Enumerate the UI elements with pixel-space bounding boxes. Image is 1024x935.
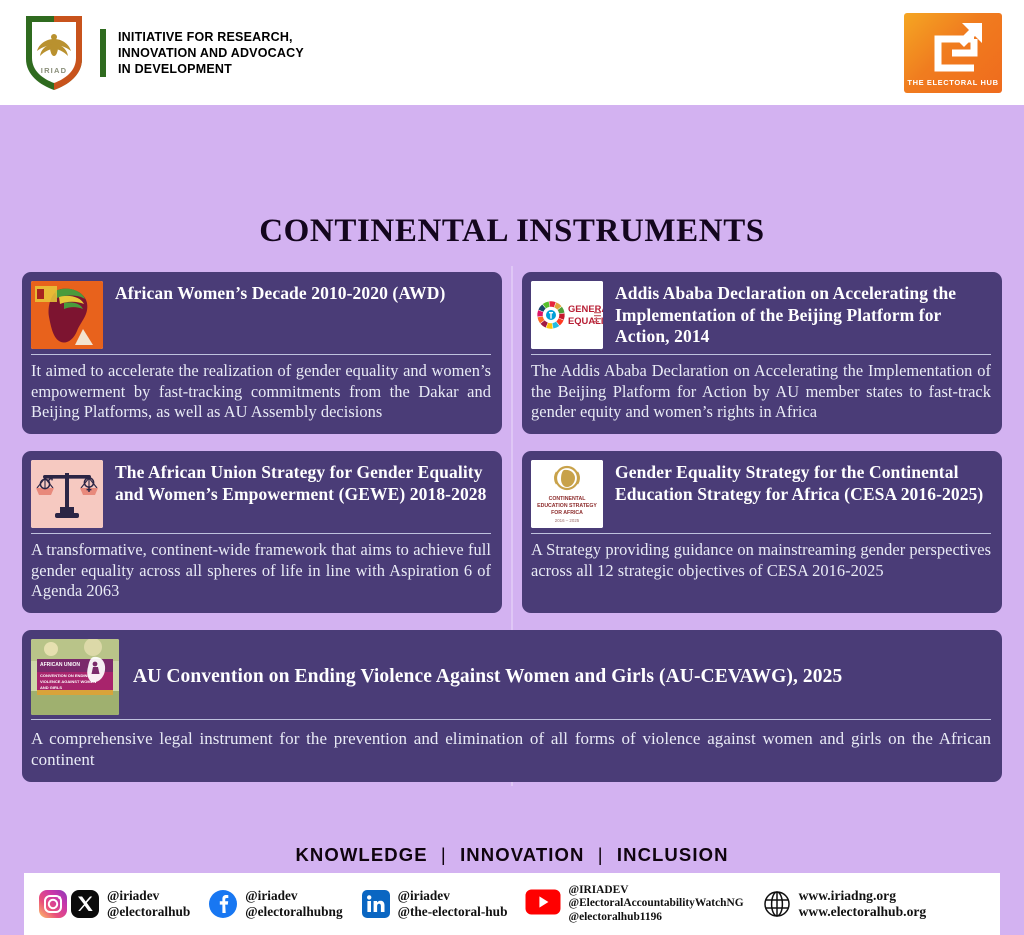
social-handles: @IRIADEV @ElectoralAccountabilityWatchNG… bbox=[568, 884, 743, 924]
card-header: AFRICAN UNION CONVENTION ON ENDING VIOLE… bbox=[31, 639, 991, 720]
thumb-text-convention: CONVENTION ON ENDING bbox=[40, 673, 90, 678]
handle-line: @electoralhubng bbox=[245, 904, 342, 920]
thumb-text-education: EDUCATION STRATEGY bbox=[537, 503, 597, 509]
au-cevawg-cover-thumbnail: AFRICAN UNION CONVENTION ON ENDING VIOLE… bbox=[31, 639, 119, 715]
social-icons bbox=[208, 889, 238, 919]
card-title: AU Convention on Ending Violence Against… bbox=[133, 665, 842, 689]
generation-equality-thumbnail: GENERATION EQUALITY bbox=[531, 281, 603, 349]
org-name: INITIATIVE FOR RESEARCH, INNOVATION AND … bbox=[100, 29, 304, 77]
cesa-strategy-thumbnail: CONTINENTAL EDUCATION STRATEGY FOR AFRIC… bbox=[531, 460, 603, 528]
thumb-text-forafrica: FOR AFRICA bbox=[551, 510, 583, 516]
instruments-grid: African Women’s Decade 2010-2020 (AWD) I… bbox=[22, 272, 1002, 782]
tagline-separator-1: | bbox=[434, 844, 454, 865]
iriad-brand: IRIAD INITIATIVE FOR RESEARCH, INNOVATIO… bbox=[22, 13, 304, 93]
x-twitter-icon[interactable] bbox=[70, 889, 100, 919]
website-link[interactable]: www.iriadng.org bbox=[799, 888, 927, 904]
card-description: A transformative, continent-wide framewo… bbox=[31, 534, 491, 602]
social-handles: @iriadev @the-electoral-hub bbox=[398, 888, 508, 919]
tagline-word-innovation: INNOVATION bbox=[460, 844, 584, 865]
social-icons bbox=[762, 889, 792, 919]
electoral-hub-logo: THE ELECTORAL HUB bbox=[904, 13, 1002, 93]
card-description: The Addis Ababa Declaration on Accelerat… bbox=[531, 355, 991, 423]
youtube-icon[interactable] bbox=[525, 889, 561, 919]
card-title: Gender Equality Strategy for the Contine… bbox=[615, 460, 991, 505]
instrument-card-addis-ababa[interactable]: GENERATION EQUALITY Addis Ababa Declarat… bbox=[522, 272, 1002, 434]
social-icons bbox=[525, 889, 561, 919]
instagram-icon[interactable] bbox=[38, 889, 68, 919]
card-title: Addis Ababa Declaration on Accelerating … bbox=[615, 281, 991, 348]
card-header: CONTINENTAL EDUCATION STRATEGY FOR AFRIC… bbox=[531, 460, 991, 534]
instrument-card-au-cevawg[interactable]: AFRICAN UNION CONVENTION ON ENDING VIOLE… bbox=[22, 630, 1002, 782]
tagline-word-inclusion: INCLUSION bbox=[617, 844, 729, 865]
gender-equality-scales-thumbnail bbox=[31, 460, 103, 528]
facebook-icon[interactable] bbox=[208, 889, 238, 919]
social-group-instagram-x[interactable]: @iriadev @electoralhub bbox=[38, 888, 190, 919]
social-handles: @iriadev @electoralhubng bbox=[245, 888, 342, 919]
website-links: www.iriadng.org www.electoralhub.org bbox=[799, 888, 927, 921]
card-description: A comprehensive legal instrument for the… bbox=[31, 720, 991, 771]
african-women-decade-thumbnail bbox=[31, 281, 103, 349]
card-header: The African Union Strategy for Gender Eq… bbox=[31, 460, 491, 534]
social-group-facebook[interactable]: @iriadev @electoralhubng bbox=[208, 888, 342, 919]
thumb-text-andgirls: AND GIRLS bbox=[40, 685, 62, 690]
handle-line: @ElectoralAccountabilityWatchNG bbox=[568, 897, 743, 910]
social-icons bbox=[361, 889, 391, 919]
thumb-text-violence: VIOLENCE AGAINST WOMEN bbox=[40, 679, 96, 684]
social-handles: @iriadev @electoralhub bbox=[107, 888, 190, 919]
card-header: GENERATION EQUALITY Addis Ababa Declarat… bbox=[531, 281, 991, 355]
svg-text:IRIAD: IRIAD bbox=[41, 66, 67, 75]
page-title: CONTINENTAL INSTRUMENTS bbox=[22, 105, 1002, 272]
social-icons bbox=[38, 889, 100, 919]
handle-line: @iriadev bbox=[107, 888, 190, 904]
tagline-word-knowledge: KNOWLEDGE bbox=[295, 844, 427, 865]
instrument-card-awd[interactable]: African Women’s Decade 2010-2020 (AWD) I… bbox=[22, 272, 502, 434]
card-title: The African Union Strategy for Gender Eq… bbox=[115, 460, 491, 505]
globe-icon[interactable] bbox=[762, 889, 792, 919]
website-link[interactable]: www.electoralhub.org bbox=[799, 904, 927, 920]
tagline-separator-2: | bbox=[591, 844, 611, 865]
thumb-text-equality: EQUALITY bbox=[568, 315, 603, 326]
instrument-card-cesa[interactable]: CONTINENTAL EDUCATION STRATEGY FOR AFRIC… bbox=[522, 451, 1002, 613]
thumb-text-continental: CONTINENTAL bbox=[549, 496, 587, 502]
page-header: IRIAD INITIATIVE FOR RESEARCH, INNOVATIO… bbox=[0, 0, 1024, 105]
social-footer: @iriadev @electoralhub @iriadev @elector… bbox=[24, 873, 1000, 935]
main-canvas: CONTINENTAL INSTRUMENTS Af bbox=[0, 105, 1024, 935]
thumb-text-years: 2016 – 2025 bbox=[555, 518, 580, 523]
handle-line: @electoralhub1196 bbox=[568, 911, 743, 924]
handle-line: @IRIADEV bbox=[568, 884, 743, 897]
thumb-text-african-union: AFRICAN UNION bbox=[40, 662, 80, 668]
card-header: African Women’s Decade 2010-2020 (AWD) bbox=[31, 281, 491, 355]
electoral-hub-label: THE ELECTORAL HUB bbox=[904, 78, 1002, 87]
handle-line: @iriadev bbox=[245, 888, 342, 904]
linkedin-icon[interactable] bbox=[361, 889, 391, 919]
handle-line: @the-electoral-hub bbox=[398, 904, 508, 920]
card-title: African Women’s Decade 2010-2020 (AWD) bbox=[115, 281, 445, 305]
social-group-website[interactable]: www.iriadng.org www.electoralhub.org bbox=[762, 888, 927, 921]
instrument-card-gewe[interactable]: The African Union Strategy for Gender Eq… bbox=[22, 451, 502, 613]
tagline-keywords: KNOWLEDGE | INNOVATION | INCLUSION bbox=[22, 844, 1002, 866]
social-group-linkedin[interactable]: @iriadev @the-electoral-hub bbox=[361, 888, 508, 919]
social-group-youtube[interactable]: @IRIADEV @ElectoralAccountabilityWatchNG… bbox=[525, 884, 743, 924]
iriad-shield-logo: IRIAD bbox=[22, 13, 86, 93]
card-description: A Strategy providing guidance on mainstr… bbox=[531, 534, 991, 581]
card-description: It aimed to accelerate the realization o… bbox=[31, 355, 491, 423]
handle-line: @iriadev bbox=[398, 888, 508, 904]
handle-line: @electoralhub bbox=[107, 904, 190, 920]
